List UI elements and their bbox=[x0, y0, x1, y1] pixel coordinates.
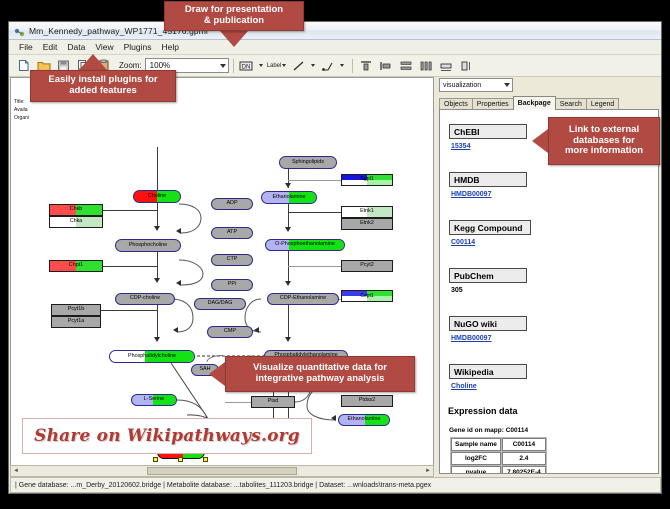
label-tool-label[interactable]: Label bbox=[267, 63, 282, 69]
table-row: log2FC 2.4 bbox=[451, 452, 546, 465]
db-link-hmdb[interactable]: HMDB00097 bbox=[451, 191, 491, 198]
arrow-to-phosphocholine bbox=[154, 226, 160, 231]
node-gene-ptdss2[interactable]: Ptdss2 bbox=[341, 395, 393, 407]
node-ppi[interactable]: PPi bbox=[211, 279, 253, 291]
menu-item-plugins[interactable]: Plugins bbox=[119, 40, 157, 55]
share-banner-text: Share on Wikipathways.org bbox=[34, 426, 300, 446]
arrow-to-cdp-ethanolamine bbox=[285, 281, 291, 286]
menu-item-data[interactable]: Data bbox=[62, 40, 90, 55]
canvas-hscrollbar[interactable]: ◄ ► bbox=[10, 465, 434, 477]
share-banner: Share on Wikipathways.org bbox=[22, 418, 312, 454]
zoom-value: 100% bbox=[150, 61, 170, 70]
label-dropdown-arrow-icon[interactable] bbox=[282, 64, 286, 67]
node-gene-sgpl1[interactable]: Sgpl1 bbox=[341, 174, 393, 186]
db-value-pubchem: 305 bbox=[451, 287, 463, 294]
distribute-horizontal-icon[interactable] bbox=[417, 57, 434, 74]
node-choline-top[interactable]: Choline bbox=[133, 190, 181, 203]
menu-item-help[interactable]: Help bbox=[157, 40, 184, 55]
arrow-to-o-phosphoethanolamine bbox=[285, 227, 291, 232]
node-gene-chka[interactable]: Chka bbox=[49, 216, 103, 228]
arrow-to-ethanolamine bbox=[285, 183, 291, 188]
arrow-to-cmp bbox=[173, 327, 178, 333]
svg-text:DN: DN bbox=[242, 64, 251, 70]
table-row: Sample name C00114 bbox=[451, 438, 546, 451]
node-cmp[interactable]: CMP bbox=[207, 326, 253, 338]
visualize-callout-line2: integrative pathway analysis bbox=[256, 374, 385, 385]
plugins-callout-line2: added features bbox=[69, 86, 137, 97]
node-gene-etnk2[interactable]: Etnk2 bbox=[341, 218, 393, 230]
visualize-callout-tail bbox=[209, 362, 225, 386]
pathvisio-app-icon bbox=[14, 25, 25, 36]
node-gene-etnk1[interactable]: Etnk1 bbox=[341, 206, 393, 218]
cell-value-pvalue: 7.80252E-4 bbox=[502, 466, 546, 474]
table-row: pvalue 7.80252E-4 bbox=[451, 466, 546, 474]
arrow-to-phosphatidylethanolamine bbox=[285, 337, 291, 342]
stack-vertical-icon[interactable] bbox=[397, 57, 414, 74]
scroll-right-icon[interactable]: ► bbox=[423, 468, 433, 474]
arrow-to-atp bbox=[176, 228, 181, 234]
side-panel-tabs[interactable]: Objects Properties Backpage Search Legen… bbox=[439, 96, 659, 110]
status-bar: | Gene database: ...m_Derby_20120602.bri… bbox=[10, 477, 661, 493]
title-bar: Mm_Kennedy_pathway_WP1771_45176.gpml bbox=[9, 22, 662, 40]
chevron-down-icon bbox=[220, 64, 226, 68]
db-heading-kegg-compound: Kegg Compound bbox=[449, 220, 531, 235]
cell-key-pvalue: pvalue bbox=[451, 466, 501, 474]
db-heading-wikipedia: Wikipedia bbox=[449, 364, 527, 379]
tab-backpage[interactable]: Backpage bbox=[513, 96, 556, 110]
line-tool-icon[interactable] bbox=[290, 57, 307, 74]
link-callout-line3: more information bbox=[565, 146, 643, 157]
cell-key-sample-name: Sample name bbox=[451, 438, 501, 451]
db-link-wikipedia[interactable]: Choline bbox=[451, 383, 477, 390]
draw-callout-tail bbox=[220, 31, 248, 47]
arrow-to-cdp-choline bbox=[154, 278, 160, 283]
node-l-serine-left[interactable]: L-Serine bbox=[131, 394, 177, 406]
arrow-to-phosphatidylcholine bbox=[154, 337, 160, 342]
interaction-tool-icon[interactable] bbox=[319, 57, 336, 74]
db-link-nugo-wiki[interactable]: HMDB00097 bbox=[451, 335, 491, 342]
node-gene-cept1[interactable]: Cept1 bbox=[341, 290, 393, 302]
node-atp[interactable]: ATP bbox=[211, 227, 253, 239]
link-callout-tail bbox=[532, 129, 548, 153]
zoom-label: Zoom: bbox=[119, 61, 142, 70]
node-ethanolamine-right[interactable]: Ethanolamine bbox=[338, 414, 390, 426]
scroll-left-icon[interactable]: ◄ bbox=[11, 468, 21, 474]
menu-item-edit[interactable]: Edit bbox=[38, 40, 63, 55]
edge-pisd-connector bbox=[225, 402, 251, 403]
cell-value-sample-name: C00114 bbox=[502, 438, 546, 451]
datanode-icon[interactable]: DN bbox=[238, 57, 255, 74]
draw-callout-line2: & publication bbox=[204, 16, 264, 27]
node-dag[interactable]: DAG/DAG bbox=[194, 298, 246, 310]
db-heading-chebi: ChEBI bbox=[449, 124, 527, 139]
node-cdp-ethanolamine[interactable]: CDP-Ethanolamine bbox=[267, 293, 339, 305]
expression-data-table: Sample name C00114 log2FC 2.4 pvalue 7.8… bbox=[450, 437, 547, 474]
plugins-callout: Easily install plugins for added feature… bbox=[30, 70, 176, 102]
node-gene-chkb[interactable]: Chkb bbox=[49, 204, 103, 216]
visualization-value: visualization bbox=[443, 82, 481, 89]
selection-handle-br[interactable] bbox=[203, 457, 208, 462]
plugins-callout-tail bbox=[79, 54, 107, 70]
expression-data-title: Expression data bbox=[448, 406, 518, 416]
selection-handle-bc[interactable] bbox=[178, 457, 183, 462]
cell-key-log2fc: log2FC bbox=[451, 452, 501, 465]
node-gene-pcyt1b[interactable]: Pcyt1b bbox=[51, 304, 101, 316]
node-gene-pisd[interactable]: Pisd bbox=[251, 396, 295, 408]
db-link-kegg-compound[interactable]: C00114 bbox=[451, 239, 475, 246]
scroll-thumb[interactable] bbox=[147, 467, 297, 475]
link-callout-line1: Link to external bbox=[569, 125, 639, 136]
same-width-icon[interactable] bbox=[437, 57, 454, 74]
line-dropdown-arrow-icon[interactable] bbox=[311, 64, 315, 67]
node-adp[interactable]: ADP bbox=[211, 198, 253, 210]
menu-item-file[interactable]: File bbox=[14, 40, 38, 55]
node-ctp[interactable]: CTP bbox=[211, 254, 253, 266]
node-sphingolipids[interactable]: Sphingolipids bbox=[279, 156, 337, 169]
node-gene-pcyt1a[interactable]: Pcyt1a bbox=[51, 316, 101, 328]
status-bar-text: | Gene database: ...m_Derby_20120602.bri… bbox=[15, 482, 431, 489]
visualize-callout: Visualize quantitative data for integrat… bbox=[225, 356, 415, 392]
chevron-down-icon bbox=[504, 83, 510, 87]
db-heading-hmdb: HMDB bbox=[449, 172, 527, 187]
node-gene-pcyt2[interactable]: Pcyt2 bbox=[341, 260, 393, 272]
interaction-dropdown-arrow-icon[interactable] bbox=[340, 64, 344, 67]
align-top-icon[interactable] bbox=[357, 57, 374, 74]
datanode-dropdown-arrow-icon[interactable] bbox=[259, 64, 263, 67]
toolbar-separator-2 bbox=[352, 59, 353, 73]
node-o-phosphoethanolamine[interactable]: O-Phosphoethanolamine bbox=[265, 239, 345, 251]
node-ethanolamine-top[interactable]: Ethanolamine bbox=[261, 191, 317, 204]
node-cdp-choline[interactable]: CDP-choline bbox=[115, 293, 175, 305]
db-link-chebi[interactable]: 15354 bbox=[451, 143, 470, 150]
visualization-combo[interactable]: visualization bbox=[439, 78, 513, 92]
link-callout: Link to external databases for more info… bbox=[548, 117, 660, 165]
draw-callout: Draw for presentation & publication bbox=[164, 1, 304, 31]
node-phosphocholine[interactable]: Phosphocholine bbox=[115, 239, 181, 252]
menu-item-view[interactable]: View bbox=[90, 40, 118, 55]
screenshot-root: Mm_Kennedy_pathway_WP1771_45176.gpml Fil… bbox=[0, 0, 670, 509]
selection-handle-bl[interactable] bbox=[153, 457, 158, 462]
node-phosphatidylcholine[interactable]: Phosphatidylcholine bbox=[109, 350, 195, 363]
db-heading-pubchem: PubChem bbox=[449, 268, 527, 283]
gene-id-on-mapp: Gene id on mapp: C00114 bbox=[449, 427, 528, 434]
align-left-icon[interactable] bbox=[377, 57, 394, 74]
arrow-to-ethanolamine-right bbox=[331, 415, 336, 421]
arrow-to-ppi bbox=[176, 280, 181, 286]
arrow-to-cmp-right bbox=[254, 327, 259, 333]
pathway-canvas[interactable]: Title: Availa Organi bbox=[10, 77, 434, 477]
node-gene-chpt1[interactable]: Chpt1 bbox=[49, 260, 103, 272]
menu-bar[interactable]: File Edit Data View Plugins Help bbox=[9, 40, 662, 55]
same-height-icon[interactable] bbox=[457, 57, 474, 74]
db-heading-nugo-wiki: NuGO wiki bbox=[449, 316, 527, 331]
cell-value-log2fc: 2.4 bbox=[502, 452, 546, 465]
toolbar-separator bbox=[233, 59, 234, 73]
